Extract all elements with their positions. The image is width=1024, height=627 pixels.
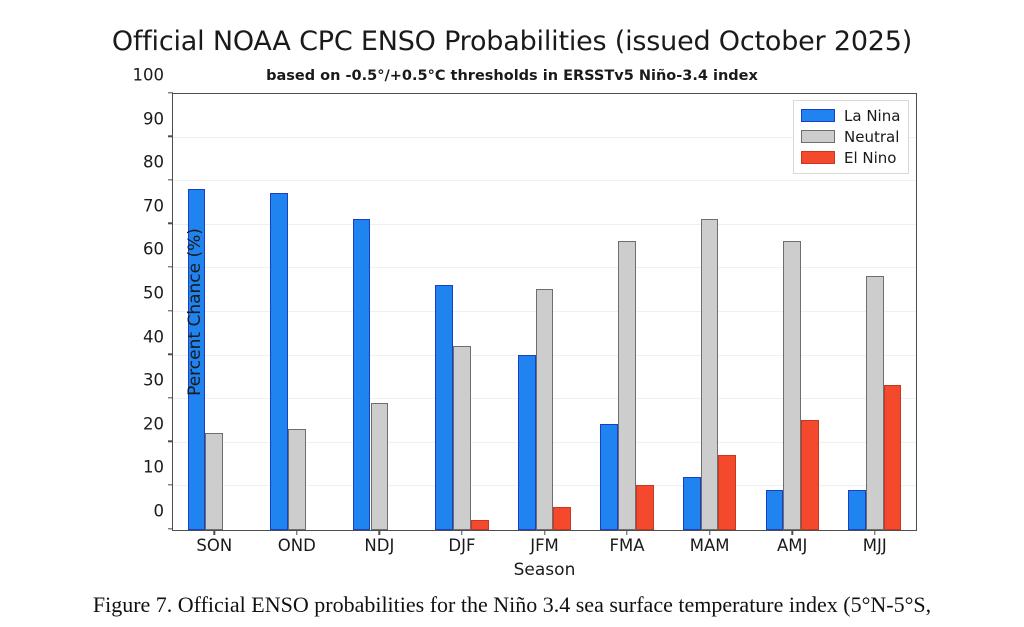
bar-amj-el-nino — [801, 420, 819, 530]
chart-title: Official NOAA CPC ENSO Probabilities (is… — [0, 26, 1024, 57]
x-tick-mark — [214, 530, 215, 535]
y-tick-label: 40 — [143, 327, 164, 346]
x-tick-label: MAM — [690, 536, 730, 555]
y-tick-label: 90 — [143, 109, 164, 128]
chart-legend: La NinaNeutralEl Nino — [793, 100, 909, 174]
legend-swatch-neutral — [801, 130, 835, 143]
legend-item-lanina: La Nina — [801, 105, 900, 126]
y-tick-label: 20 — [143, 414, 164, 433]
y-tick-label: 10 — [143, 458, 164, 477]
x-tick-label: OND — [278, 536, 316, 555]
legend-label: Neutral — [844, 128, 899, 146]
y-tick-mark — [168, 223, 173, 224]
bar-mjj-la-nina — [848, 490, 866, 530]
x-tick-mark — [791, 530, 792, 535]
y-tick-mark — [168, 179, 173, 180]
y-tick-label: 100 — [133, 66, 165, 85]
x-tick-label: MJJ — [863, 536, 887, 555]
bar-djf-la-nina — [435, 285, 453, 530]
bar-ond-neutral — [288, 429, 306, 530]
figure-caption: Figure 7. Official ENSO probabilities fo… — [0, 592, 1024, 618]
x-tick-mark — [379, 530, 380, 535]
bar-mjj-neutral — [866, 276, 884, 530]
y-tick-mark — [168, 484, 173, 485]
y-tick-label: 70 — [143, 196, 164, 215]
bar-ond-la-nina — [270, 193, 288, 530]
bar-amj-la-nina — [766, 490, 784, 530]
bar-mam-la-nina — [683, 477, 701, 530]
x-tick-mark — [544, 530, 545, 535]
bar-djf-el-nino — [471, 520, 489, 530]
y-tick-mark — [168, 397, 173, 398]
x-tick-label: NDJ — [364, 536, 394, 555]
y-tick-label: 60 — [143, 240, 164, 259]
bar-amj-neutral — [783, 241, 801, 530]
bar-mjj-el-nino — [884, 385, 902, 530]
y-tick-mark — [168, 136, 173, 137]
bar-fma-neutral — [618, 241, 636, 530]
y-tick-mark — [168, 528, 173, 529]
y-tick-mark — [168, 266, 173, 267]
legend-label: La Nina — [844, 107, 900, 125]
bar-son-neutral — [205, 433, 223, 530]
y-tick-label: 50 — [143, 284, 164, 303]
bar-ndj-neutral — [371, 403, 389, 530]
x-tick-mark — [296, 530, 297, 535]
x-tick-label: DJF — [448, 536, 475, 555]
bar-jfm-la-nina — [518, 355, 536, 530]
bar-mam-neutral — [701, 219, 719, 530]
legend-label: El Nino — [844, 149, 897, 167]
bar-fma-el-nino — [636, 485, 654, 530]
bar-djf-neutral — [453, 346, 471, 530]
y-tick-mark — [168, 354, 173, 355]
x-tick-label: JFM — [530, 536, 559, 555]
gridline — [173, 180, 916, 181]
bar-jfm-neutral — [536, 289, 554, 530]
y-tick-label: 30 — [143, 371, 164, 390]
y-tick-label: 80 — [143, 153, 164, 172]
y-tick-mark — [168, 92, 173, 93]
x-axis-label: Season — [173, 560, 916, 580]
x-tick-label: FMA — [610, 536, 645, 555]
y-tick-label: 0 — [154, 502, 165, 521]
x-tick-mark — [709, 530, 710, 535]
y-tick-mark — [168, 310, 173, 311]
x-tick-label: SON — [196, 536, 232, 555]
legend-item-neutral: Neutral — [801, 126, 900, 147]
bar-mam-el-nino — [718, 455, 736, 530]
y-tick-mark — [168, 441, 173, 442]
legend-swatch-lanina — [801, 109, 835, 122]
figure-panel: Official NOAA CPC ENSO Probabilities (is… — [0, 0, 1024, 586]
bar-jfm-el-nino — [553, 507, 571, 530]
x-tick-mark — [626, 530, 627, 535]
legend-item-elnino: El Nino — [801, 147, 900, 168]
x-tick-mark — [461, 530, 462, 535]
x-tick-label: AMJ — [777, 536, 807, 555]
y-axis-label: Percent Chance (%) — [185, 228, 205, 396]
bar-fma-la-nina — [600, 424, 618, 530]
bar-ndj-la-nina — [353, 219, 371, 530]
legend-swatch-elnino — [801, 151, 835, 164]
x-tick-mark — [874, 530, 875, 535]
